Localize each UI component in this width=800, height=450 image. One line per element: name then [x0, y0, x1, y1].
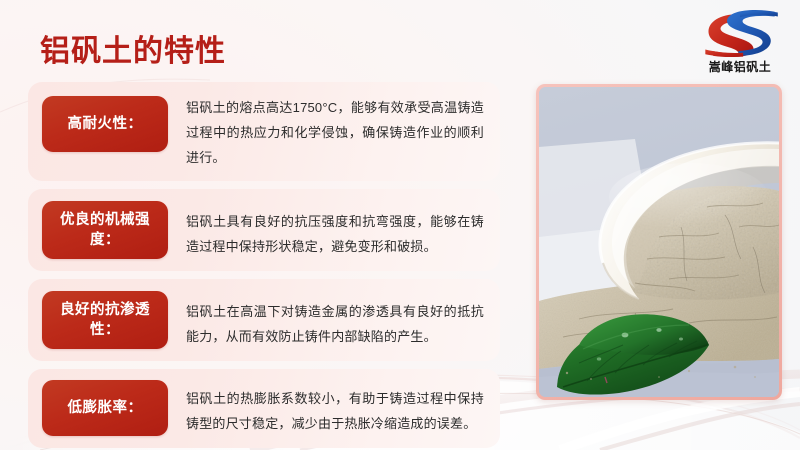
company-logo: 嵩峰铝矾土: [692, 7, 788, 83]
feature-row: 低膨胀率： 铝矾土的热膨胀系数较小，有助于铸造过程中保持铸型的尺寸稳定，减少由于…: [28, 369, 500, 448]
feature-description: 铝矾土在高温下对铸造金属的渗透具有良好的抵抗能力，从而有效防止铸件内部缺陷的产生…: [168, 279, 500, 360]
feature-description: 铝矾土的热膨胀系数较小，有助于铸造过程中保持铸型的尺寸稳定，减少由于热胀冷缩造成…: [168, 369, 500, 447]
feature-label-badge: 良好的抗渗透性：: [42, 291, 168, 349]
feature-row: 优良的机械强度： 铝矾土具有良好的抗压强度和抗弯强度，能够在铸造过程中保持形状稳…: [28, 189, 500, 271]
feature-row: 良好的抗渗透性： 铝矾土在高温下对铸造金属的渗透具有良好的抵抗能力，从而有效防止…: [28, 279, 500, 361]
feature-list: 高耐火性： 铝矾土的熔点高达1750°C，能够有效承受高温铸造过程中的热应力和化…: [28, 82, 500, 450]
feature-row: 高耐火性： 铝矾土的熔点高达1750°C，能够有效承受高温铸造过程中的热应力和化…: [28, 82, 500, 181]
feature-description: 铝矾土的熔点高达1750°C，能够有效承受高温铸造过程中的热应力和化学侵蚀，确保…: [168, 82, 500, 181]
feature-label-badge: 低膨胀率：: [42, 380, 168, 436]
feature-label-badge: 优良的机械强度：: [42, 201, 168, 259]
page-title: 铝矾土的特性: [40, 26, 226, 70]
product-photo: [539, 87, 779, 397]
logo-text: 嵩峰铝矾土: [692, 60, 788, 74]
feature-label-badge: 高耐火性：: [42, 96, 168, 152]
product-photo-frame: [536, 84, 782, 400]
feature-description: 铝矾土具有良好的抗压强度和抗弯强度，能够在铸造过程中保持形状稳定，避免变形和破损…: [168, 189, 500, 270]
slide-canvas: 铝矾土的特性: [0, 0, 800, 450]
product-photo-illustration: [539, 87, 779, 397]
songfeng-s-emblem-icon: [692, 7, 788, 59]
